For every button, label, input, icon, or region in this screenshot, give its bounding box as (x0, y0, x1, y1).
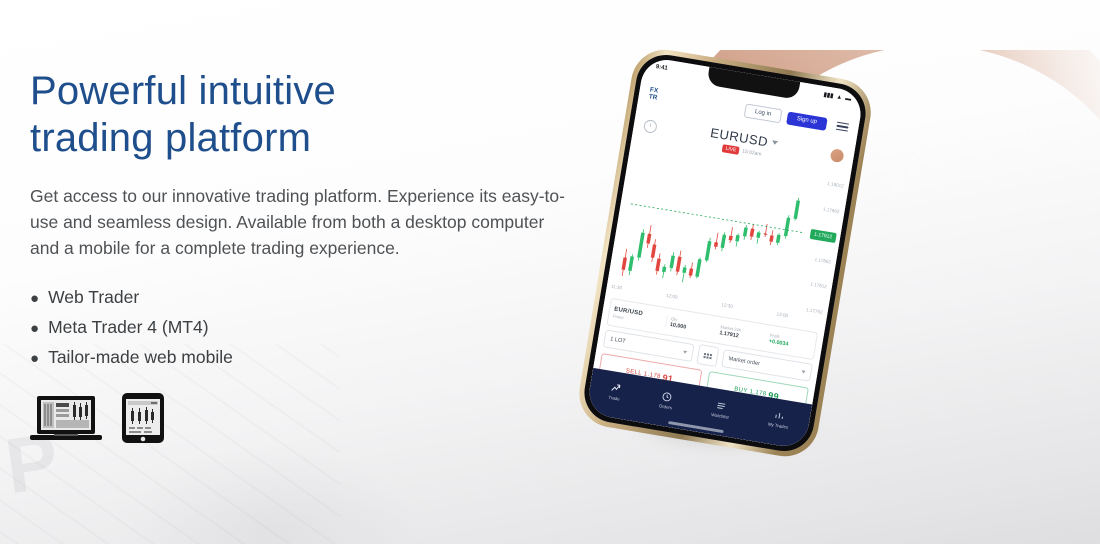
symbol-time: 15:02am (742, 148, 762, 157)
status-badge: LIVE (722, 144, 740, 155)
chart-x-label: 11:30 (611, 284, 623, 291)
nav-label: My Trades (767, 422, 788, 430)
arc-number: 2.11% (883, 144, 934, 195)
arc-number: 3.7 (1018, 80, 1053, 110)
quote-cell: Market 24h 1.17912 (715, 324, 766, 344)
app-logo-line2: TR (648, 93, 658, 101)
clock-icon (661, 390, 674, 403)
chart-y-label: 1.17812 (810, 282, 827, 290)
quote-cell: Qty 10,000 (665, 315, 716, 335)
list-item: ● Tailor-made web mobile (30, 342, 605, 372)
chevron-down-icon (801, 370, 805, 374)
page-title: Powerful intuitive trading platform (30, 68, 605, 162)
trade-icon (609, 382, 622, 395)
phone-mockup: 9:41 ▮▮▮ ▲ ▬ FX TR Log in Sign up i (570, 40, 881, 466)
hero-section: P (0, 0, 1100, 544)
order-type-value: Market order (728, 356, 760, 367)
bullet-icon: ● (30, 291, 39, 306)
chart-icon (773, 409, 786, 422)
hero-paragraph: Get access to our innovative trading pla… (30, 184, 575, 262)
headline-line-1: Powerful intuitive (30, 68, 605, 115)
battery-icon: ▬ (845, 95, 852, 102)
nav-label: Watchlist (711, 412, 729, 420)
arc-marker-icon: ▼ (945, 91, 960, 108)
list-item: ● Web Trader (30, 282, 605, 312)
nav-item-orders[interactable]: Orders (658, 390, 674, 410)
chart-y-label: 1.17862 (814, 257, 831, 265)
bullet-icon: ● (30, 321, 39, 336)
feature-label: Tailor-made web mobile (48, 342, 233, 372)
feature-label: Meta Trader 4 (MT4) (48, 312, 208, 342)
bullet-icon: ● (30, 351, 39, 366)
calculator-icon[interactable] (696, 344, 719, 367)
hamburger-icon[interactable] (836, 122, 849, 132)
signup-button[interactable]: Sign up (786, 111, 828, 130)
list-icon (715, 399, 728, 412)
chart-x-label: 13:00 (776, 311, 788, 318)
mobile-trading-icon (120, 392, 166, 449)
quantity-value: 1 LOT (610, 336, 626, 344)
chart-x-label: 12:30 (721, 302, 733, 309)
quote-symbol-cell: EUR/USD Forex (609, 306, 668, 327)
hero-content: Powerful intuitive trading platform Get … (30, 68, 605, 449)
chart-y-label: 1.18012 (827, 181, 844, 189)
chart-y-label: 1.17962 (823, 206, 840, 214)
desktop-trading-icon (30, 394, 102, 449)
chart-y-label: 1.17762 (806, 307, 823, 315)
arc-number: +51% (875, 92, 915, 128)
nav-item-my-trades[interactable]: My Trades (767, 408, 790, 430)
chart-x-label: 12:00 (666, 293, 678, 300)
chevron-down-icon (683, 350, 687, 354)
nav-label: Orders (658, 403, 672, 410)
nav-label: Trade (608, 395, 620, 402)
quote-cell: Profit +0.0034 (764, 332, 815, 352)
chevron-down-icon (772, 140, 779, 145)
app-logo[interactable]: FX TR (648, 88, 659, 103)
wifi-icon: ▲ (836, 94, 843, 101)
headline-line-2: trading platform (30, 115, 605, 162)
background-soft-blob (120, 444, 420, 544)
feature-label: Web Trader (48, 282, 139, 312)
platform-icon-row (30, 392, 605, 449)
arc-number: 3216 (1016, 115, 1054, 143)
nav-item-watchlist[interactable]: Watchlist (711, 399, 731, 420)
signal-icon: ▮▮▮ (823, 91, 834, 100)
feature-list: ● Web Trader ● Meta Trader 4 (MT4) ● Tai… (30, 282, 605, 372)
status-time: 9:41 (655, 64, 668, 72)
login-button[interactable]: Log in (744, 103, 782, 123)
list-item: ● Meta Trader 4 (MT4) (30, 312, 605, 342)
symbol-name: EURUSD (709, 125, 769, 149)
nav-item-trade[interactable]: Trade (608, 382, 622, 402)
